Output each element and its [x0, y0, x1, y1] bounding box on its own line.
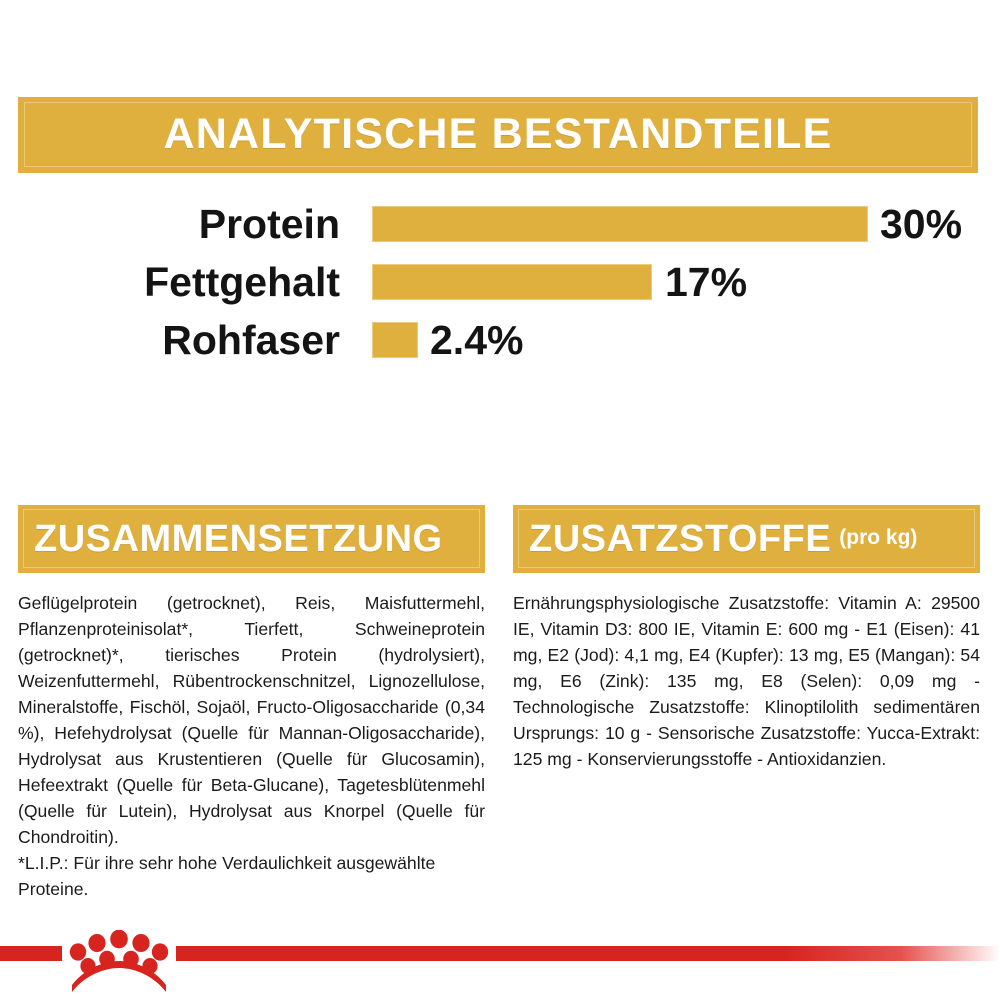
analytical-constituents-header-band: ANALYTISCHE BESTANDTEILE: [18, 97, 978, 173]
bar-value-protein: 30%: [880, 196, 962, 252]
additives-header-band: ZUSATZSTOFFE (pro kg): [513, 505, 980, 573]
bar-value-rohfaser: 2.4%: [430, 312, 523, 368]
composition-footnote: *L.I.P.: Für ihre sehr hohe Verdaulichke…: [18, 850, 485, 902]
additives-list-text: Ernährungsphysiologische Zusatzstoffe: V…: [513, 593, 980, 769]
bar-fill-fettgehalt: [372, 264, 652, 300]
bar-value-fettgehalt: 17%: [665, 254, 747, 310]
analytical-constituents-title: ANALYTISCHE BESTANDTEILE: [163, 113, 832, 156]
composition-title: ZUSAMMENSETZUNG: [34, 520, 443, 558]
analytical-constituents-chart: Protein 30% Fettgehalt 17% Rohfaser 2.4%: [0, 196, 1000, 386]
additives-section: ZUSATZSTOFFE (pro kg) Ernährungsphysiolo…: [513, 505, 980, 772]
composition-header-band: ZUSAMMENSETZUNG: [18, 505, 485, 573]
chart-bar-row: Rohfaser 2.4%: [0, 312, 1000, 368]
header-band-inner-border: ANALYTISCHE BESTANDTEILE: [24, 102, 972, 167]
additives-title: ZUSATZSTOFFE: [529, 520, 831, 558]
additives-body: Ernährungsphysiologische Zusatzstoffe: V…: [513, 590, 980, 772]
bar-track-fettgehalt: [372, 264, 872, 300]
footer-rule-left-segment: [0, 946, 62, 961]
composition-band-inner-border: ZUSAMMENSETZUNG: [23, 509, 480, 568]
bar-track-protein: [372, 206, 872, 242]
bar-label-fettgehalt: Fettgehalt: [40, 254, 340, 310]
chart-bar-row: Protein 30%: [0, 196, 1000, 252]
footer-rule-right-segment: [176, 946, 1000, 961]
chart-bar-row: Fettgehalt 17%: [0, 254, 1000, 310]
bar-label-rohfaser: Rohfaser: [40, 312, 340, 368]
additives-subtitle: (pro kg): [839, 527, 917, 550]
additives-band-inner-border: ZUSATZSTOFFE (pro kg): [518, 509, 975, 568]
nutrition-info-panel: ANALYTISCHE BESTANDTEILE Protein 30% Fet…: [0, 0, 1000, 1000]
bar-label-protein: Protein: [40, 196, 340, 252]
royal-canin-crown-icon: [62, 930, 176, 998]
composition-body: Geflügelprotein (getrocknet), Reis, Mais…: [18, 590, 485, 902]
composition-ingredients-text: Geflügelprotein (getrocknet), Reis, Mais…: [18, 593, 485, 847]
footer-brand-rule: [0, 930, 1000, 1000]
bar-fill-protein: [372, 206, 868, 242]
composition-section: ZUSAMMENSETZUNG Geflügelprotein (getrock…: [18, 505, 485, 902]
bar-fill-rohfaser: [372, 322, 418, 358]
